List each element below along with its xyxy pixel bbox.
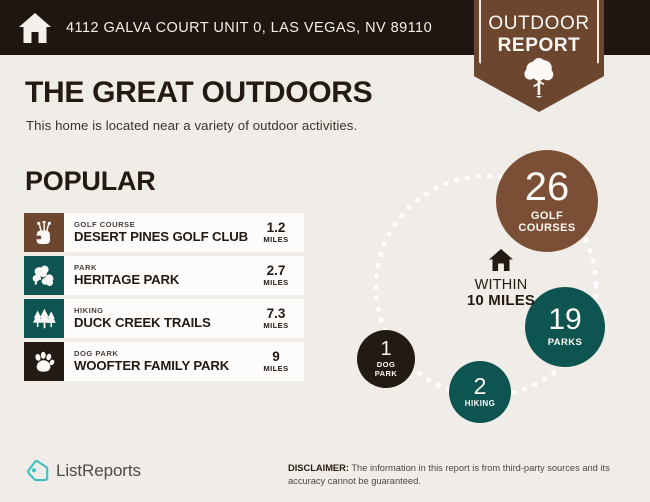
paw-print-icon (33, 351, 55, 373)
poi-distance: 9 MILES (255, 342, 304, 381)
poi-distance-value: 7.3 (267, 307, 286, 321)
poi-name: HERITAGE PARK (74, 273, 255, 288)
chart-center-label: WITHIN 10 MILES (446, 248, 556, 310)
poi-distance-unit: MILES (263, 278, 288, 287)
park-trees-icon-tile (24, 256, 64, 295)
list-item-text: PARK HERITAGE PARK (64, 256, 255, 295)
page-title: THE GREAT OUTDOORS (25, 78, 372, 108)
home-icon (488, 248, 514, 272)
bubble-label: HIKING (465, 400, 495, 409)
popular-poi-list: GOLF COURSE DESERT PINES GOLF CLUB 1.2 M… (24, 213, 304, 385)
golf-bag-icon (34, 221, 55, 245)
outdoor-report-infographic: 4112 GALVA COURT UNIT 0, LAS VEGAS, NV 8… (0, 0, 650, 502)
bubble-label-line2: PARK (375, 370, 398, 378)
poi-distance-value: 1.2 (267, 221, 286, 235)
badge-title-line1: OUTDOOR (474, 14, 604, 33)
chart-center-line1: WITHIN (446, 277, 556, 293)
paw-print-icon-tile (24, 342, 64, 381)
poi-distance: 1.2 MILES (255, 213, 304, 252)
listreports-logo-text: ListReports (56, 461, 141, 481)
list-item[interactable]: HIKING DUCK CREEK TRAILS 7.3 MILES (24, 299, 304, 338)
poi-distance-unit: MILES (263, 364, 288, 373)
poi-distance-unit: MILES (263, 235, 288, 244)
pine-trees-icon (32, 308, 57, 330)
bubble-dog-park[interactable]: 1 DOG PARK (357, 330, 415, 388)
bubble-label: GOLF COURSES (518, 210, 575, 234)
popular-heading: POPULAR (25, 168, 156, 195)
listreports-logo[interactable]: ListReports (26, 459, 141, 483)
poi-name: WOOFTER FAMILY PARK (74, 359, 255, 374)
within-10-miles-bubble-chart: 26 GOLF COURSES 19 PARKS 2 HIKING 1 DOG … (340, 140, 650, 440)
bubble-label-line1: GOLF (518, 210, 575, 222)
tree-icon (523, 58, 555, 96)
list-item[interactable]: GOLF COURSE DESERT PINES GOLF CLUB 1.2 M… (24, 213, 304, 252)
chart-center-line2: 10 MILES (446, 293, 556, 310)
listreports-house-tag-icon (26, 459, 49, 483)
home-icon (18, 12, 52, 44)
outdoor-report-badge: OUTDOOR REPORT (474, 0, 604, 112)
poi-distance-value: 2.7 (267, 264, 286, 278)
bubble-value: 26 (525, 168, 570, 206)
bubble-label: DOG PARK (375, 361, 398, 378)
list-item-text: GOLF COURSE DESERT PINES GOLF CLUB (64, 213, 255, 252)
bubble-hiking[interactable]: 2 HIKING (449, 361, 511, 423)
page-subtitle: This home is located near a variety of o… (26, 118, 357, 133)
bubble-value: 1 (380, 340, 391, 359)
bubble-label: PARKS (548, 338, 583, 348)
pine-trees-icon-tile (24, 299, 64, 338)
list-item-text: HIKING DUCK CREEK TRAILS (64, 299, 255, 338)
poi-name: DESERT PINES GOLF CLUB (74, 230, 255, 245)
poi-distance: 7.3 MILES (255, 299, 304, 338)
list-item-text: DOG PARK WOOFTER FAMILY PARK (64, 342, 255, 381)
list-item[interactable]: DOG PARK WOOFTER FAMILY PARK 9 MILES (24, 342, 304, 381)
bubble-value: 2 (474, 376, 487, 398)
poi-distance-unit: MILES (263, 321, 288, 330)
poi-name: DUCK CREEK TRAILS (74, 316, 255, 331)
property-address: 4112 GALVA COURT UNIT 0, LAS VEGAS, NV 8… (66, 20, 432, 36)
golf-bag-icon-tile (24, 213, 64, 252)
park-trees-icon (32, 265, 56, 287)
poi-distance: 2.7 MILES (255, 256, 304, 295)
bubble-golf-courses[interactable]: 26 GOLF COURSES (496, 150, 598, 252)
list-item[interactable]: PARK HERITAGE PARK 2.7 MILES (24, 256, 304, 295)
disclaimer-label: DISCLAIMER: (288, 463, 349, 473)
bubble-label-line2: COURSES (518, 222, 575, 234)
badge-title-line2: REPORT (474, 36, 604, 55)
poi-distance-value: 9 (272, 350, 280, 364)
disclaimer: DISCLAIMER: The information in this repo… (288, 462, 636, 488)
bubble-value: 19 (548, 306, 581, 335)
